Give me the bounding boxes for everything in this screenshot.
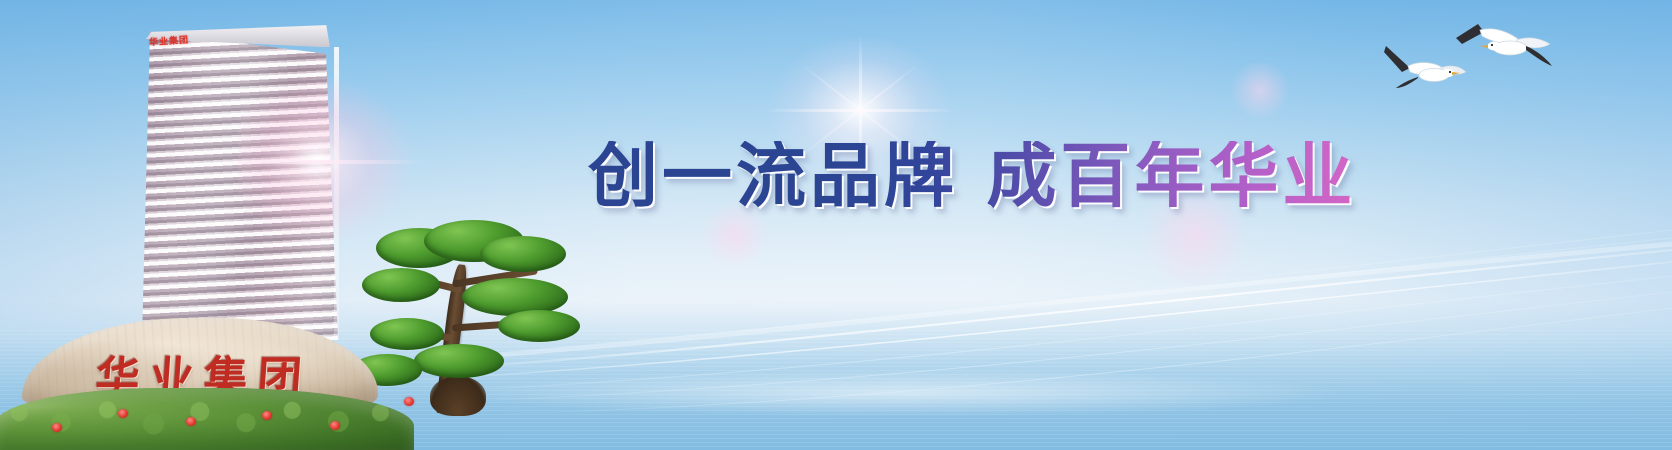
slogan: 创一流品牌 成百年华业: [588, 128, 1358, 224]
red-flower: [52, 423, 62, 432]
hedge: [0, 388, 414, 450]
tree-foliage: [370, 318, 444, 350]
pine-tree: [352, 226, 582, 426]
red-flower: [118, 409, 128, 418]
sun-flare-building: [238, 78, 418, 248]
seagull-right: [1452, 12, 1557, 82]
hedge-texture: [0, 388, 414, 450]
flare-dot: [1230, 60, 1290, 120]
tree-root-base: [430, 376, 486, 416]
red-flower: [404, 397, 414, 406]
sea-glow: [468, 370, 1337, 416]
red-flower: [262, 411, 272, 420]
rooftop-sign: 华业集团: [149, 33, 190, 49]
red-flower: [330, 421, 340, 430]
tree-foliage: [414, 344, 504, 378]
red-flower: [186, 417, 196, 426]
tree-foliage: [362, 268, 440, 302]
slogan-text: 创一流品牌 成百年华业: [588, 141, 1356, 211]
tree-foliage: [498, 310, 580, 342]
tree-foliage: [480, 236, 566, 272]
hero-banner: 华业集团 华业集团: [0, 0, 1672, 450]
